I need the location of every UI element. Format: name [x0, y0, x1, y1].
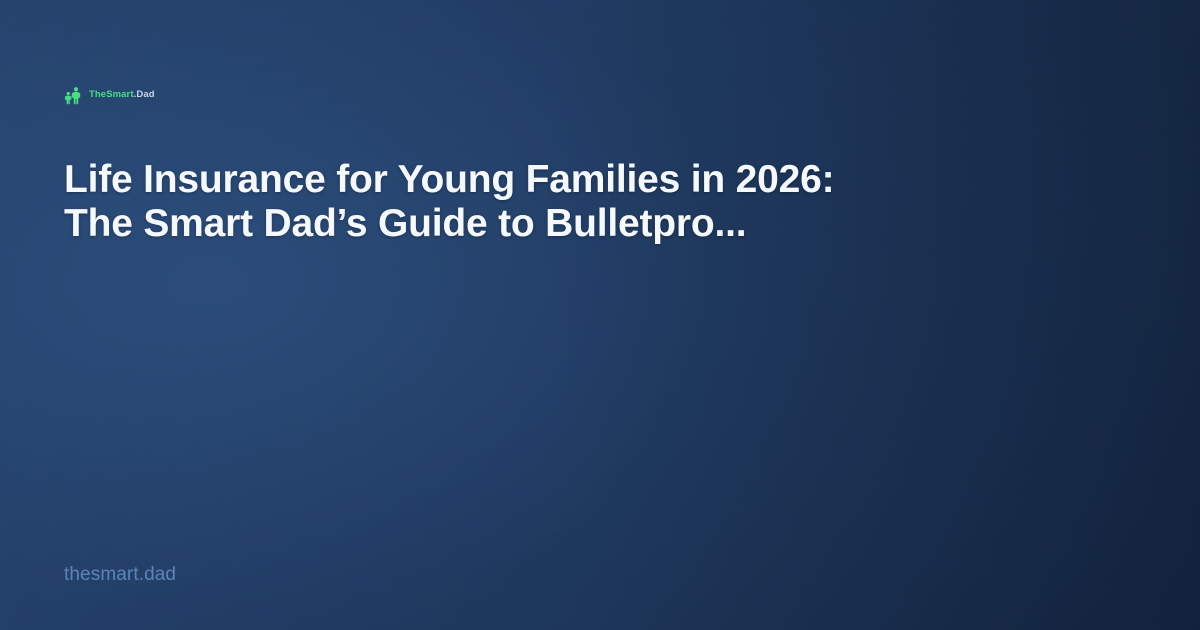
brand-name: TheSmart.Dad [89, 90, 155, 100]
layout-spacer [64, 246, 1136, 565]
brand-name-suffix: .Dad [134, 90, 155, 100]
brand-name-primary: TheSmart [89, 90, 134, 100]
headline-container: Life Insurance for Young Families in 202… [64, 158, 1136, 246]
card-content: TheSmart.Dad Life Insurance for Young Fa… [0, 0, 1200, 630]
page-title: Life Insurance for Young Families in 202… [64, 158, 894, 246]
open-graph-card: TheSmart.Dad Life Insurance for Young Fa… [0, 0, 1200, 630]
brand-logo[interactable]: TheSmart.Dad [64, 84, 1136, 106]
parent-and-child-icon [64, 86, 83, 105]
site-url[interactable]: thesmart.dad [64, 565, 176, 584]
card-footer: thesmart.dad [64, 565, 1136, 584]
